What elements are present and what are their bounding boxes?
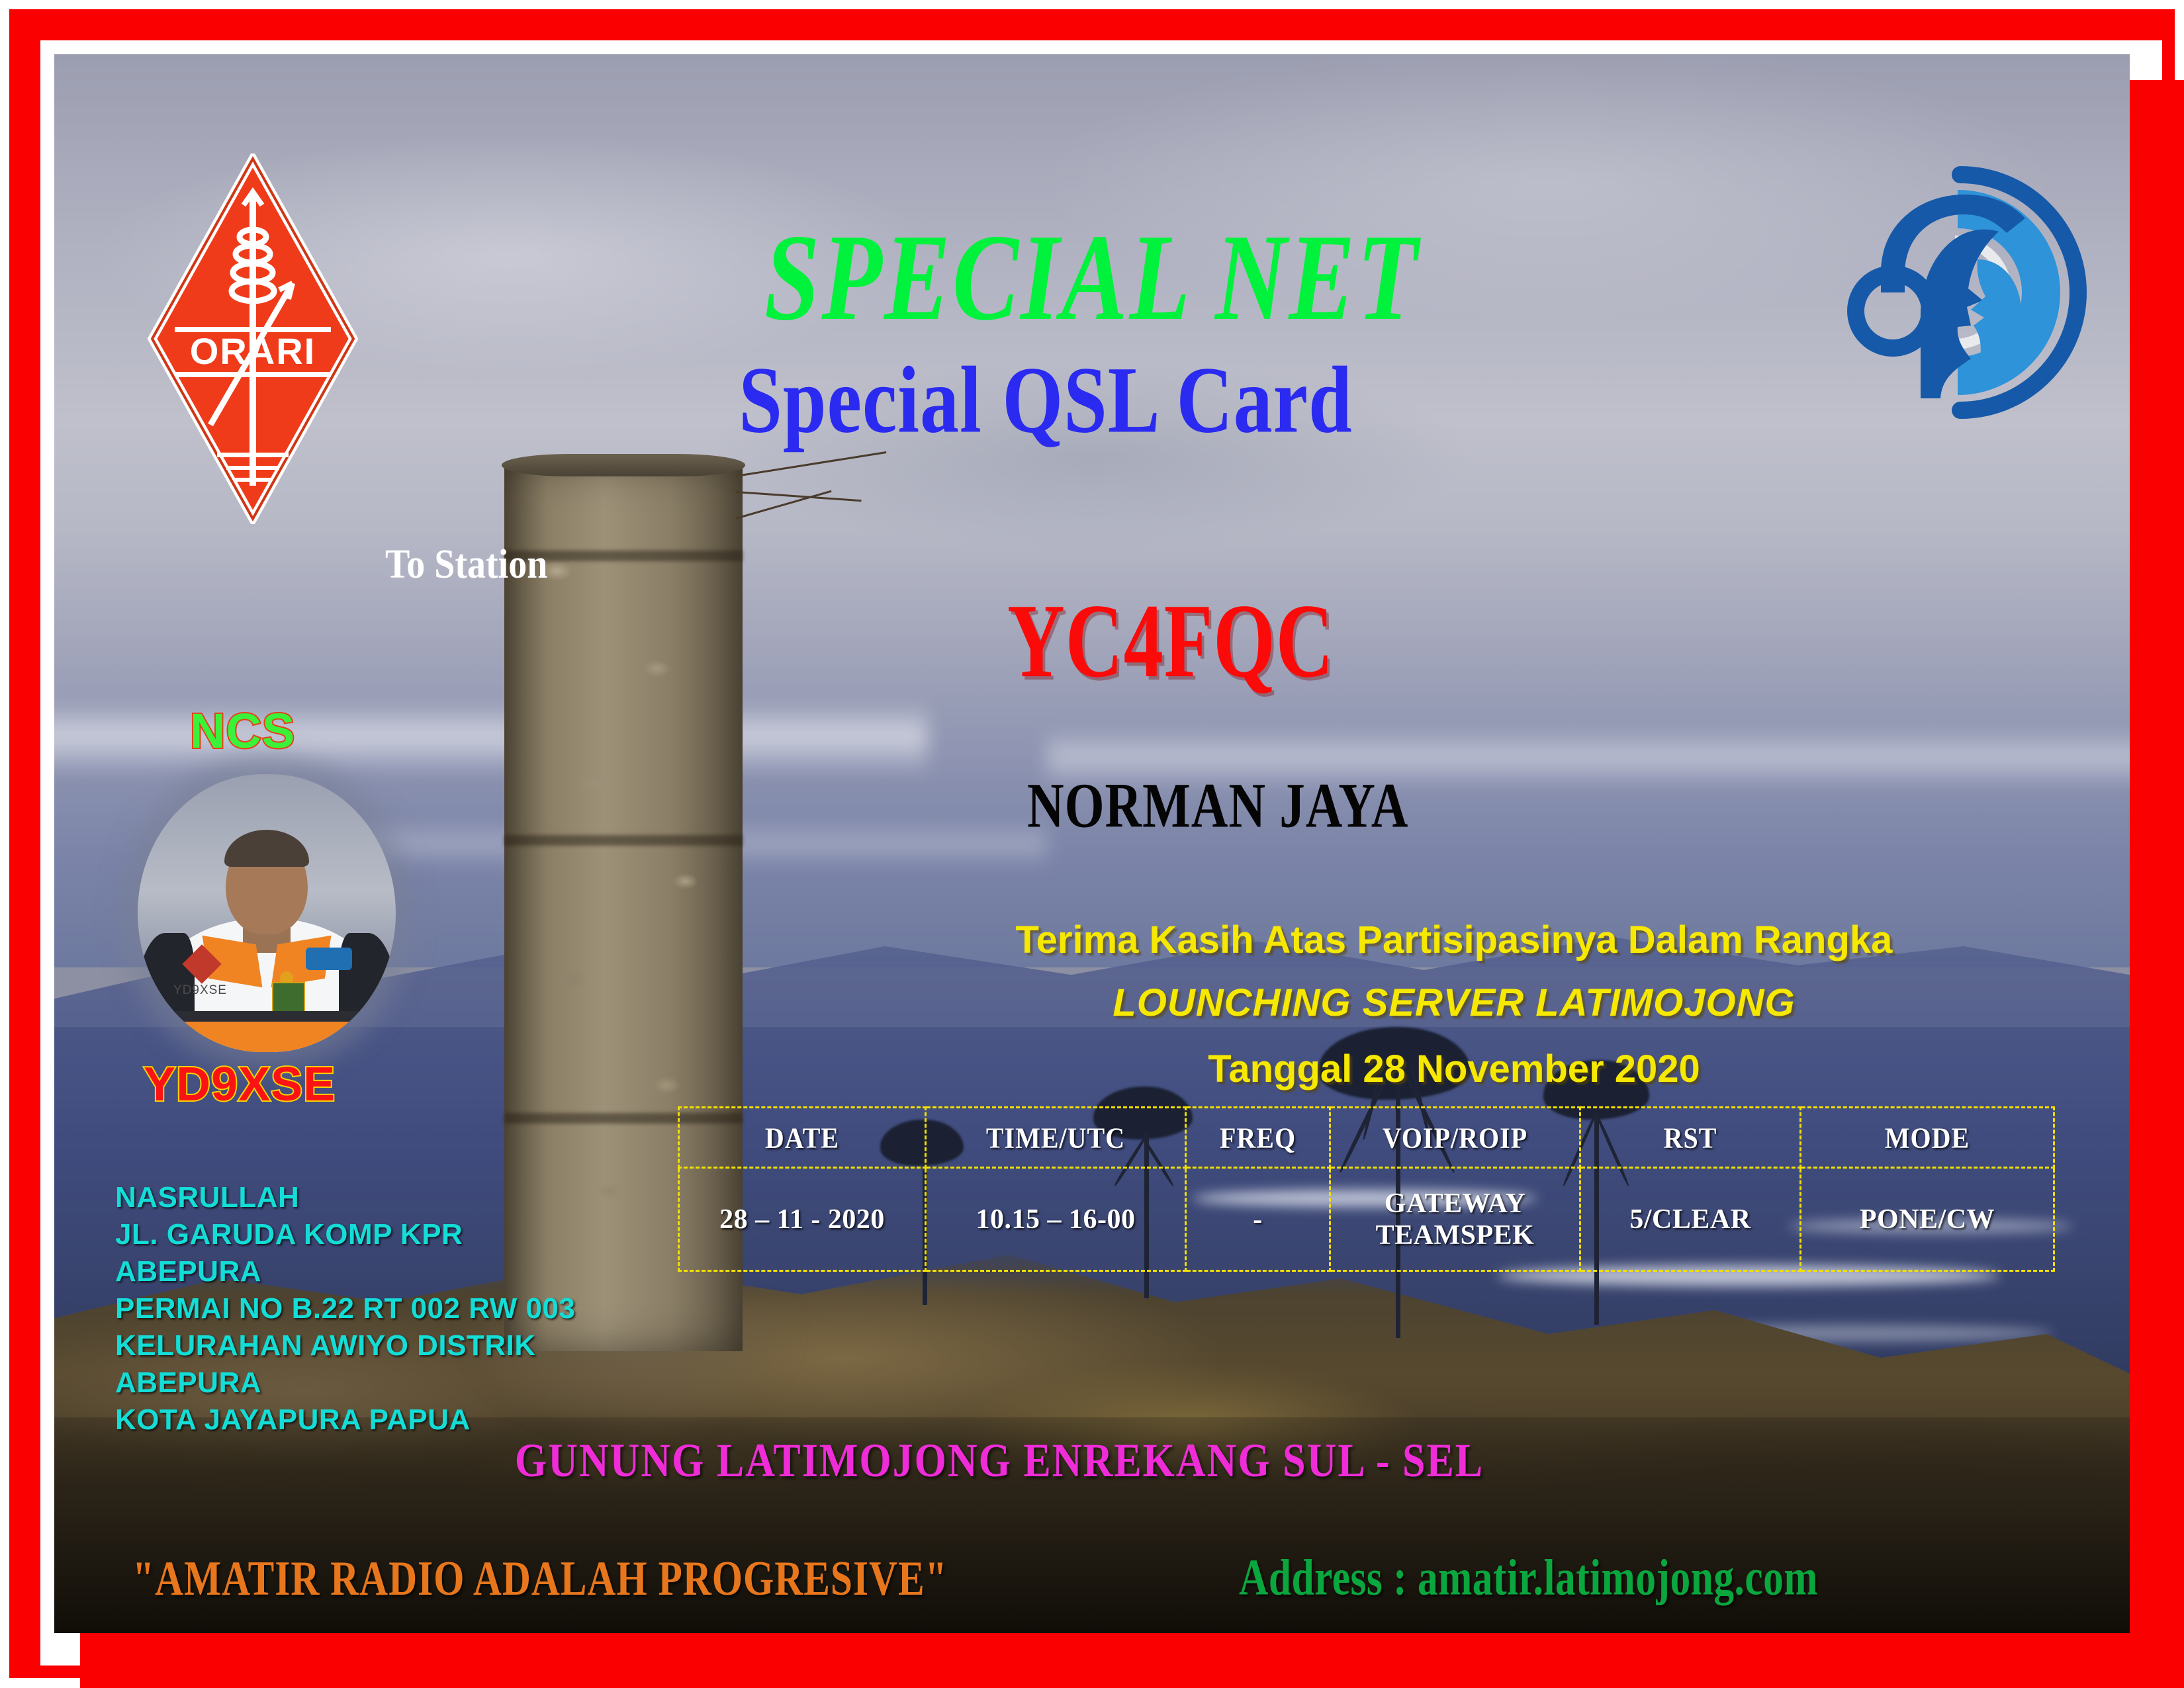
ncs-callsign: YD9XSE: [144, 1057, 336, 1112]
cell-rst: 5/CLEAR: [1580, 1168, 1801, 1271]
column-header-rst: RST: [1580, 1104, 1801, 1171]
card-title-special-net: SPECIAL NET: [54, 206, 2130, 349]
background-photograph: ORARI: [54, 54, 2130, 1633]
table-row: 28 – 11 - 2020 10.15 – 16-00 - GATEWAY T…: [679, 1168, 2054, 1271]
card-subtitle-special-qsl: Special QSL Card: [54, 345, 2083, 455]
recipient-operator-name: NORMAN JAYA: [1027, 769, 1408, 842]
cell-mode: PONE/CW: [1801, 1168, 2054, 1271]
address-line: PERMAI NO B.22 RT 002 RW 003: [115, 1290, 575, 1327]
address-line: ABEPURA: [115, 1253, 575, 1290]
qsl-card: ORARI: [0, 0, 2184, 1687]
sender-address-block: NASRULLAH JL. GARUDA KOMP KPR ABEPURA PE…: [115, 1179, 575, 1439]
thanks-line-2: LOUNCHING SERVER LATIMOJONG: [809, 981, 2099, 1025]
table-header-row: DATE TIME/UTC FREQ VOIP/ROIP RST MODE: [679, 1108, 2054, 1168]
address-line: NASRULLAH: [115, 1179, 575, 1216]
to-station-label: To Station: [385, 541, 547, 588]
address-line: JL. GARUDA KOMP KPR: [115, 1216, 575, 1253]
ncs-label: NCS: [190, 703, 295, 759]
footer-web-address: Address : amatir.latimojong.com: [1239, 1548, 1818, 1607]
column-header-date: DATE: [679, 1104, 926, 1171]
recipient-callsign: YC4FQC: [1007, 580, 1334, 702]
cell-time: 10.15 – 16-00: [926, 1168, 1186, 1271]
ncs-operator-photo: YD9XSE: [138, 774, 396, 1052]
thanks-line-3: Tanggal 28 November 2020: [809, 1047, 2099, 1091]
footer-motto: "AMATIR RADIO ADALAH PROGRESIVE": [132, 1551, 948, 1607]
address-line: KELURAHAN AWIYO DISTRIK: [115, 1327, 575, 1364]
uniform-callsign-text: YD9XSE: [173, 983, 227, 998]
column-header-freq: FREQ: [1186, 1104, 1330, 1171]
pillar-cap: [502, 454, 745, 476]
address-line: KOTA JAYAPURA PAPUA: [115, 1401, 575, 1439]
column-header-time: TIME/UTC: [926, 1104, 1186, 1171]
column-header-voip: VOIP/ROIP: [1330, 1104, 1580, 1171]
cell-voip: GATEWAY TEAMSPEK: [1330, 1168, 1580, 1271]
cell-date: 28 – 11 - 2020: [679, 1168, 926, 1271]
cell-freq: -: [1186, 1168, 1330, 1271]
cloud-band: [54, 703, 928, 776]
thanks-line-1: Terima Kasih Atas Partisipasinya Dalam R…: [809, 918, 2099, 962]
location-caption: GUNUNG LATIMOJONG ENREKANG SUL - SEL: [54, 1434, 2037, 1488]
column-header-mode: MODE: [1801, 1104, 2054, 1171]
qso-log-table: DATE TIME/UTC FREQ VOIP/ROIP RST MODE 28…: [678, 1106, 2055, 1272]
address-line: ABEPURA: [115, 1364, 575, 1401]
